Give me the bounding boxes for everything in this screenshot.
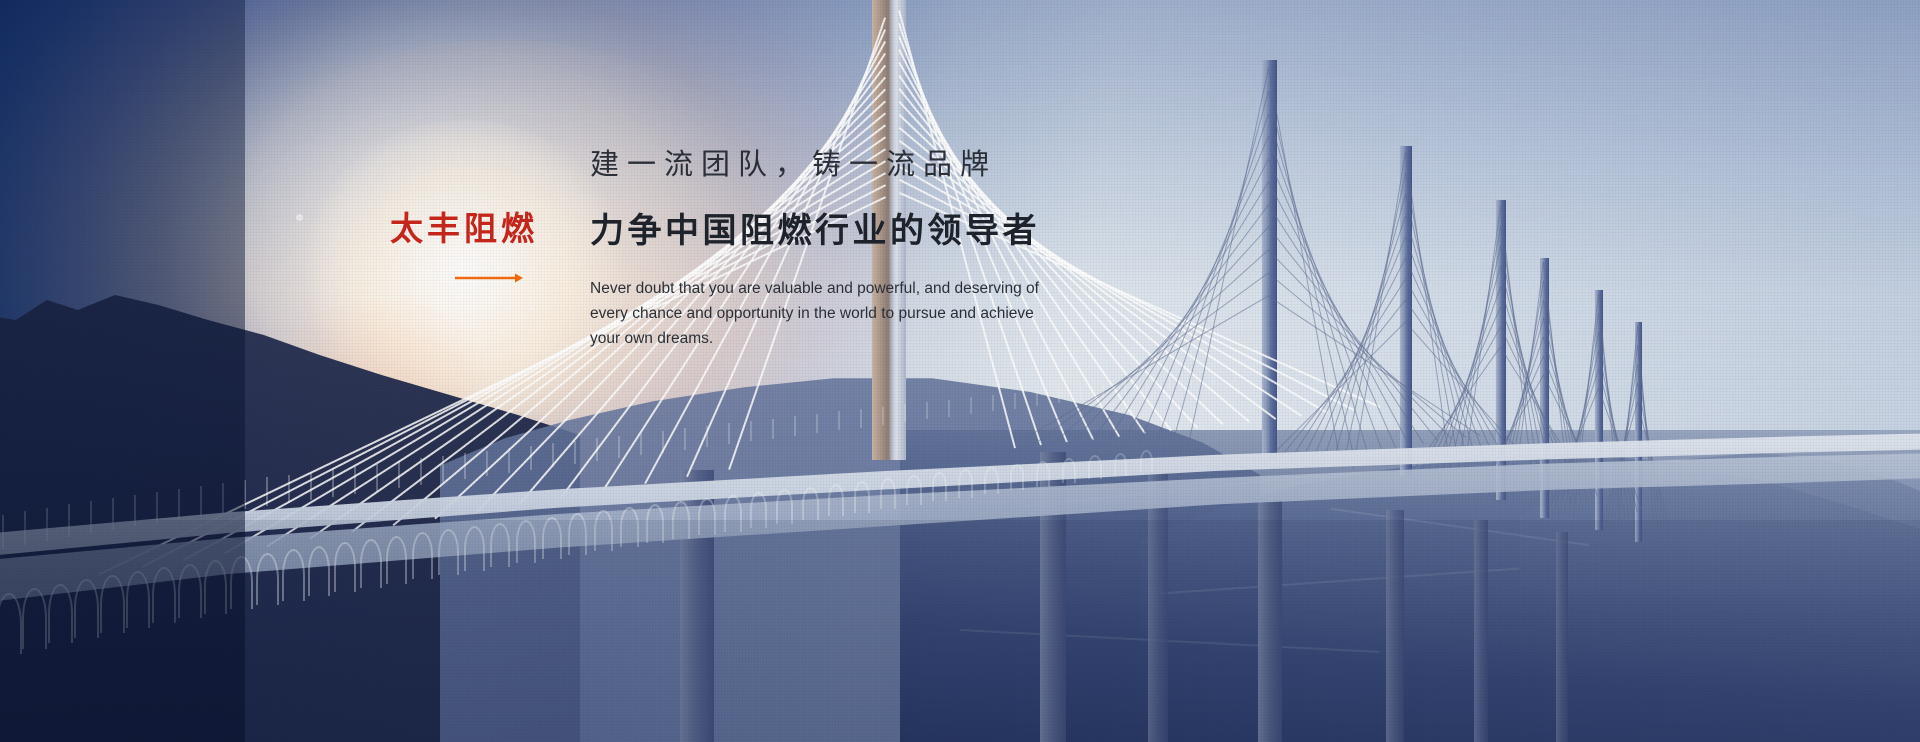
banner-content: 太丰阻燃 建一流团队，铸一流品牌 力争中国阻燃行业的领导者 Never doub… (0, 0, 1920, 742)
headline-secondary: 建一流团队，铸一流品牌 (590, 150, 1350, 179)
banner-paragraph: Never doubt that you are valuable and po… (590, 276, 1060, 351)
headline-primary: 力争中国阻燃行业的领导者 (590, 214, 1350, 248)
brand-logo-text: 太丰阻燃 (378, 212, 538, 245)
brand-logo[interactable]: 太丰阻燃 (378, 212, 538, 245)
hero-banner: 太丰阻燃 建一流团队，铸一流品牌 力争中国阻燃行业的领导者 Never doub… (0, 0, 1920, 742)
arrow-right-icon (455, 272, 523, 284)
headline-block: 建一流团队，铸一流品牌 力争中国阻燃行业的领导者 Never doubt tha… (590, 150, 1350, 351)
